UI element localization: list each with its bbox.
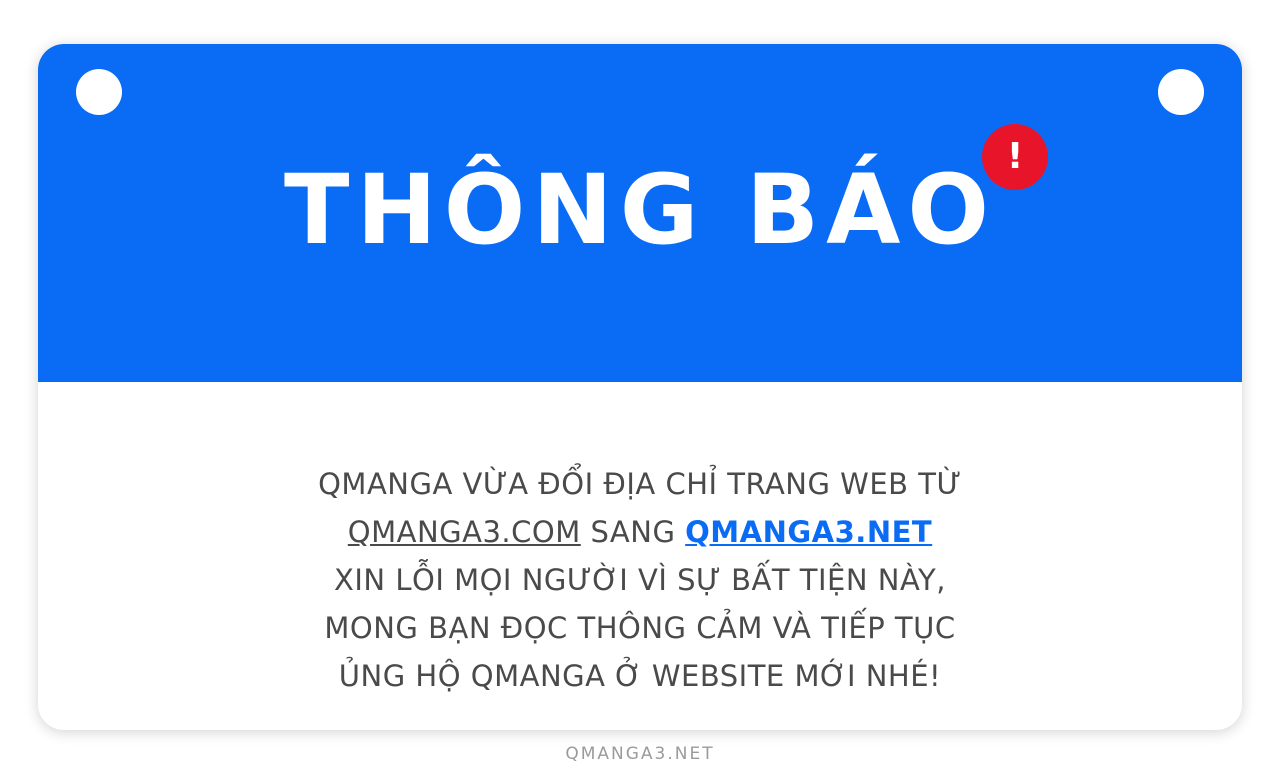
- message-line-2: QMANGA3.COM SANG QMANGA3.NET: [318, 508, 962, 556]
- announcement-card: THÔNG BÁO ! QMANGA VỪA ĐỔI ĐỊA CHỈ TRANG…: [38, 44, 1242, 730]
- message-text-5: ỦNG HỘ QMANGA Ở WEBSITE MỚI NHÉ!: [339, 659, 941, 693]
- punch-hole-right-icon: [1158, 69, 1204, 115]
- alert-badge-icon: !: [982, 124, 1048, 190]
- announcement-title-text: THÔNG BÁO: [284, 154, 996, 266]
- message-text-1: QMANGA VỪA ĐỔI ĐỊA CHỈ TRANG WEB TỪ: [318, 467, 962, 501]
- message-line-4: MONG BẠN ĐỌC THÔNG CẢM VÀ TIẾP TỤC: [318, 604, 962, 652]
- page-footer: QMANGA3.NET: [0, 744, 1280, 764]
- message-text-4: MONG BẠN ĐỌC THÔNG CẢM VÀ TIẾP TỤC: [324, 611, 955, 645]
- card-body: QMANGA VỪA ĐỔI ĐỊA CHỈ TRANG WEB TỪ QMAN…: [38, 382, 1242, 730]
- punch-hole-left-icon: [76, 69, 122, 115]
- page-root: THÔNG BÁO ! QMANGA VỪA ĐỔI ĐỊA CHỈ TRANG…: [0, 0, 1280, 773]
- message-text-3: XIN LỖI MỌI NGƯỜI VÌ SỰ BẤT TIỆN NÀY,: [334, 563, 946, 597]
- message-line-1: QMANGA VỪA ĐỔI ĐỊA CHỈ TRANG WEB TỪ: [318, 460, 962, 508]
- title-wrap: THÔNG BÁO !: [38, 162, 1242, 258]
- announcement-message: QMANGA VỪA ĐỔI ĐỊA CHỈ TRANG WEB TỪ QMAN…: [318, 460, 962, 700]
- announcement-title: THÔNG BÁO !: [284, 162, 996, 258]
- message-text-sang: SANG: [581, 515, 685, 549]
- message-line-3: XIN LỖI MỌI NGƯỜI VÌ SỰ BẤT TIỆN NÀY,: [318, 556, 962, 604]
- old-domain-link[interactable]: QMANGA3.COM: [348, 515, 581, 549]
- message-line-5: ỦNG HỘ QMANGA Ở WEBSITE MỚI NHÉ!: [318, 652, 962, 700]
- new-domain-link[interactable]: QMANGA3.NET: [685, 515, 932, 549]
- card-header: THÔNG BÁO !: [38, 44, 1242, 382]
